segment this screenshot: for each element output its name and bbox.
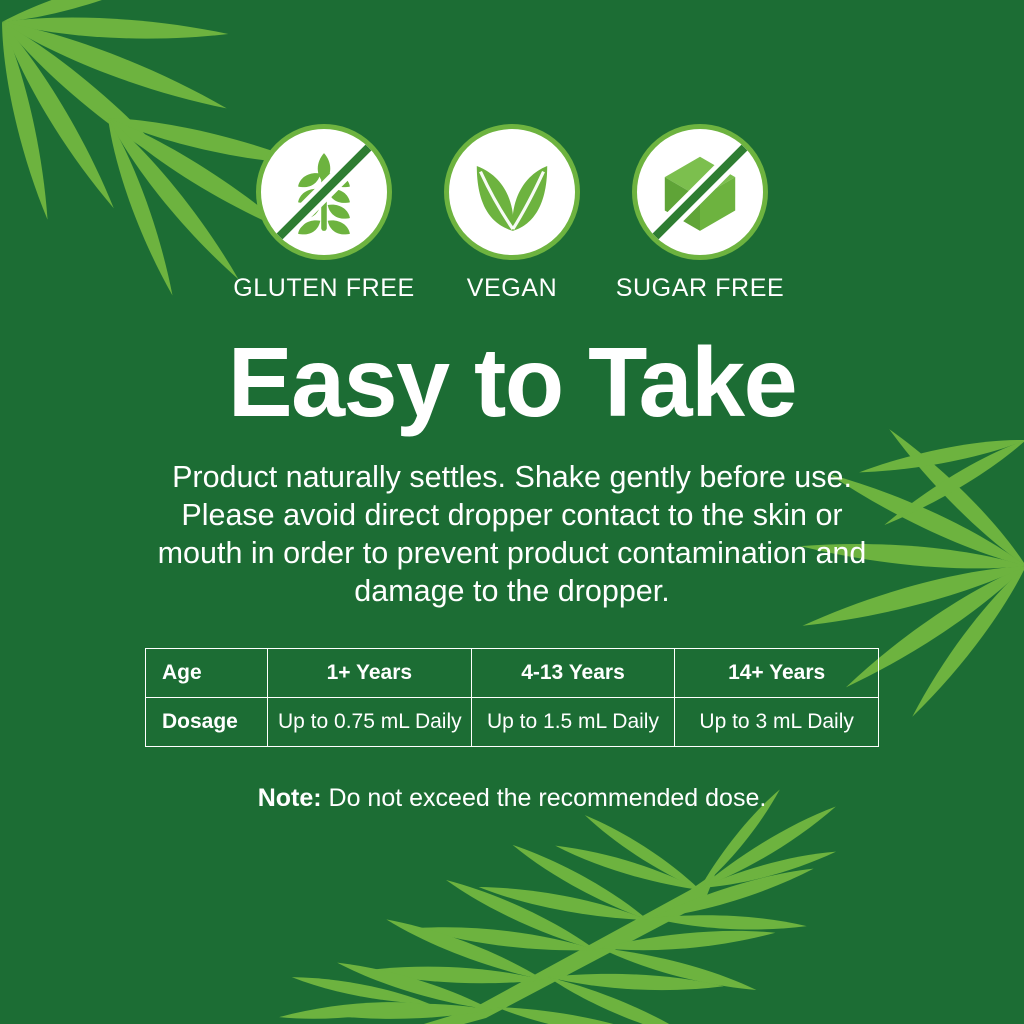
- two-leaves-icon: [449, 124, 575, 260]
- badge-gluten-free: GLUTEN FREE: [251, 124, 397, 303]
- dosage-table: Age 1+ Years 4-13 Years 14+ Years Dosage…: [145, 648, 879, 747]
- sugar-cube-crossed-out-icon: [637, 124, 763, 260]
- badge-circle-vegan: [444, 124, 580, 260]
- badge-label-gluten-free: GLUTEN FREE: [233, 274, 415, 303]
- instructions-paragraph: Product naturally settles. Shake gently …: [138, 458, 886, 610]
- table-row-age: Age 1+ Years 4-13 Years 14+ Years: [146, 649, 879, 698]
- table-row-dosage: Dosage Up to 0.75 mL Daily Up to 1.5 mL …: [146, 698, 879, 747]
- certification-badge-row: GLUTEN FREE VEGAN: [0, 124, 1024, 303]
- dosage-table-wrapper: Age 1+ Years 4-13 Years 14+ Years Dosage…: [145, 648, 879, 747]
- wheat-stalk-crossed-out-icon: [261, 124, 387, 260]
- product-info-poster: GLUTEN FREE VEGAN: [0, 0, 1024, 1024]
- badge-vegan: VEGAN: [439, 124, 585, 303]
- table-cell-dosage-1: Up to 0.75 mL Daily: [268, 698, 472, 747]
- badge-sugar-free: SUGAR FREE: [627, 124, 773, 303]
- table-cell-age-2: 4-13 Years: [471, 649, 675, 698]
- table-cell-age-1: 1+ Years: [268, 649, 472, 698]
- badge-label-sugar-free: SUGAR FREE: [616, 274, 785, 303]
- table-cell-dosage-2: Up to 1.5 mL Daily: [471, 698, 675, 747]
- table-rowlabel-dosage: Dosage: [146, 698, 268, 747]
- badge-label-vegan: VEGAN: [467, 274, 558, 303]
- badge-circle-sugar-free: [632, 124, 768, 260]
- dosage-note-text: Do not exceed the recommended dose.: [329, 784, 767, 812]
- badge-circle-gluten-free: [256, 124, 392, 260]
- table-cell-dosage-3: Up to 3 mL Daily: [675, 698, 879, 747]
- page-title: Easy to Take: [5, 333, 1019, 431]
- table-cell-age-3: 14+ Years: [675, 649, 879, 698]
- dosage-note: Note: Do not exceed the recommended dose…: [0, 784, 1024, 813]
- dosage-note-prefix: Note:: [258, 784, 322, 812]
- table-rowlabel-age: Age: [146, 649, 268, 698]
